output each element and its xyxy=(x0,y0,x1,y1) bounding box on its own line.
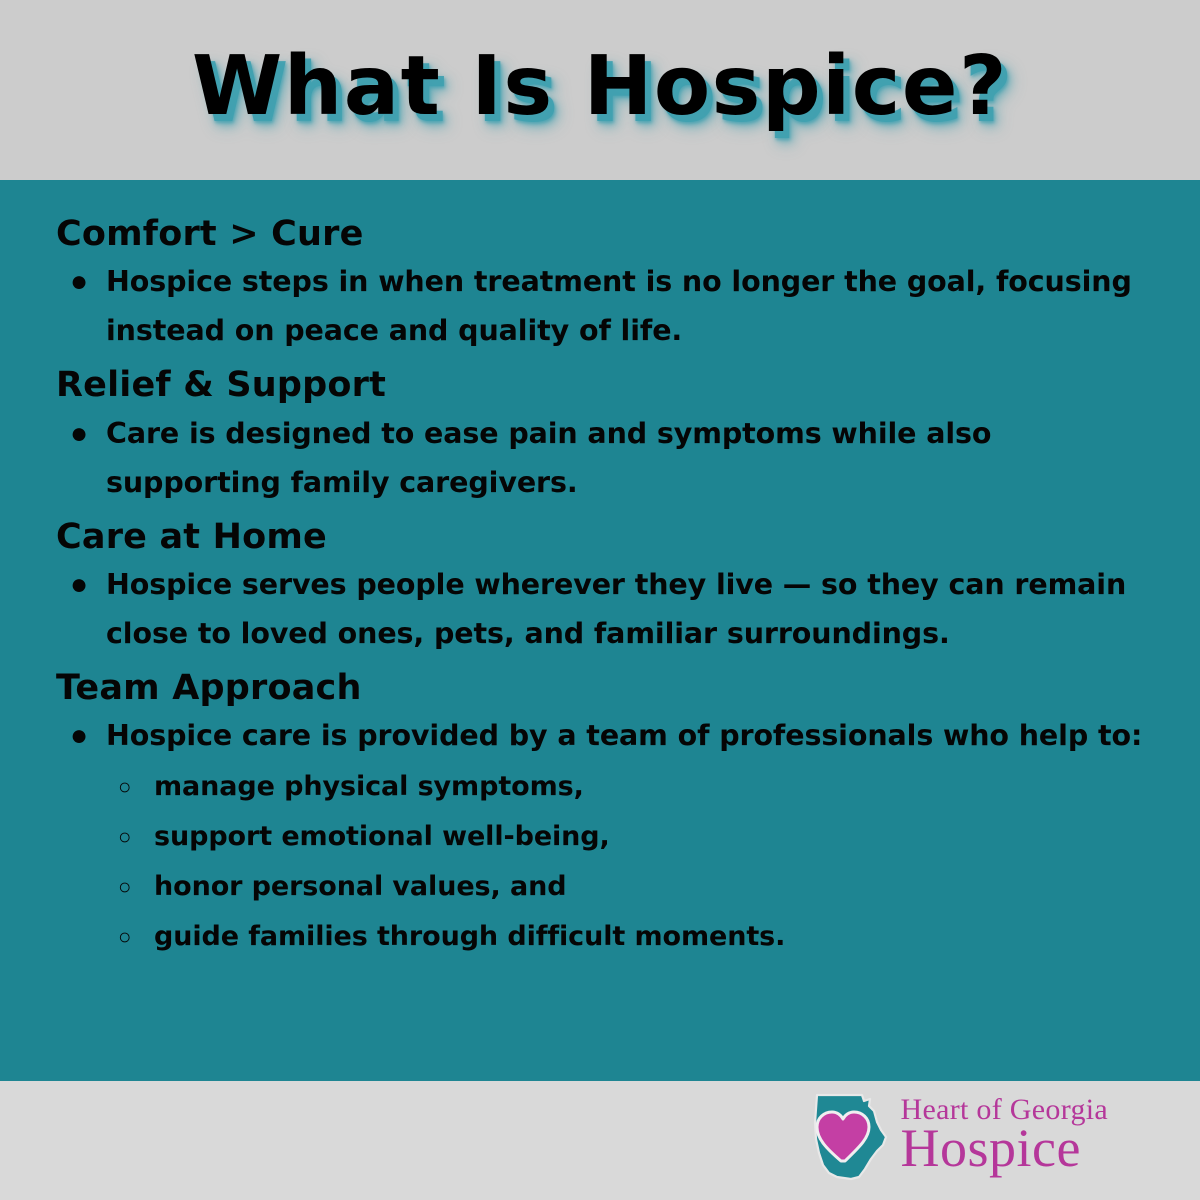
content-section: Relief & Support●Care is designed to eas… xyxy=(54,365,1146,506)
bullet-marker-icon: ● xyxy=(70,560,88,609)
bullet-text: Care is designed to ease pain and sympto… xyxy=(106,409,1146,507)
section-heading: Team Approach xyxy=(56,668,1146,709)
section-heading: Relief & Support xyxy=(56,365,1146,406)
logo-line-hospice: Hospice xyxy=(901,1121,1081,1175)
bullet-item: ●Hospice steps in when treatment is no l… xyxy=(54,257,1146,355)
subbullet-marker-icon: ○ xyxy=(118,912,131,962)
georgia-state-with-heart-icon xyxy=(807,1089,893,1185)
content-section: Comfort > Cure●Hospice steps in when tre… xyxy=(54,214,1146,355)
subbullet-text: guide families through difficult moments… xyxy=(154,912,1146,962)
subbullet-marker-icon: ○ xyxy=(118,862,131,912)
bullet-item: ●Hospice care is provided by a team of p… xyxy=(54,711,1146,760)
bullet-text: Hospice care is provided by a team of pr… xyxy=(106,711,1146,760)
bullet-marker-icon: ● xyxy=(70,409,88,458)
content-section: Team Approach●Hospice care is provided b… xyxy=(54,668,1146,962)
bullet-text: Hospice steps in when treatment is no lo… xyxy=(106,257,1146,355)
subbullet-list: ○manage physical symptoms,○support emoti… xyxy=(54,762,1146,962)
subbullet-item: ○honor personal values, and xyxy=(54,862,1146,912)
section-heading: Care at Home xyxy=(56,517,1146,558)
subbullet-text: support emotional well-being, xyxy=(154,812,1146,862)
bullet-list: ●Hospice steps in when treatment is no l… xyxy=(54,257,1146,355)
subbullet-item: ○manage physical symptoms, xyxy=(54,762,1146,812)
subbullet-marker-icon: ○ xyxy=(118,762,131,812)
page-title: What Is Hospice? xyxy=(192,46,1008,134)
bullet-item: ●Hospice serves people wherever they liv… xyxy=(54,560,1146,658)
bullet-marker-icon: ● xyxy=(70,257,88,306)
bullet-marker-icon: ● xyxy=(70,711,88,760)
content-panel: Comfort > Cure●Hospice steps in when tre… xyxy=(0,180,1200,1081)
subbullet-item: ○guide families through difficult moment… xyxy=(54,912,1146,962)
bullet-list: ●Hospice care is provided by a team of p… xyxy=(54,711,1146,962)
bullet-item: ●Care is designed to ease pain and sympt… xyxy=(54,409,1146,507)
footer-band: Heart of Georgia Hospice xyxy=(0,1081,1200,1200)
subbullet-text: honor personal values, and xyxy=(154,862,1146,912)
bullet-list: ●Hospice serves people wherever they liv… xyxy=(54,560,1146,658)
header-band: What Is Hospice? xyxy=(0,0,1200,180)
brand-logo: Heart of Georgia Hospice xyxy=(807,1089,1109,1185)
bullet-text: Hospice serves people wherever they live… xyxy=(106,560,1146,658)
subbullet-marker-icon: ○ xyxy=(118,812,131,862)
logo-wordmark: Heart of Georgia Hospice xyxy=(901,1095,1109,1179)
subbullet-text: manage physical symptoms, xyxy=(154,762,1146,812)
subbullet-item: ○support emotional well-being, xyxy=(54,812,1146,862)
content-section: Care at Home●Hospice serves people where… xyxy=(54,517,1146,658)
section-heading: Comfort > Cure xyxy=(56,214,1146,255)
sections-list: Comfort > Cure●Hospice steps in when tre… xyxy=(54,214,1146,962)
bullet-list: ●Care is designed to ease pain and sympt… xyxy=(54,409,1146,507)
